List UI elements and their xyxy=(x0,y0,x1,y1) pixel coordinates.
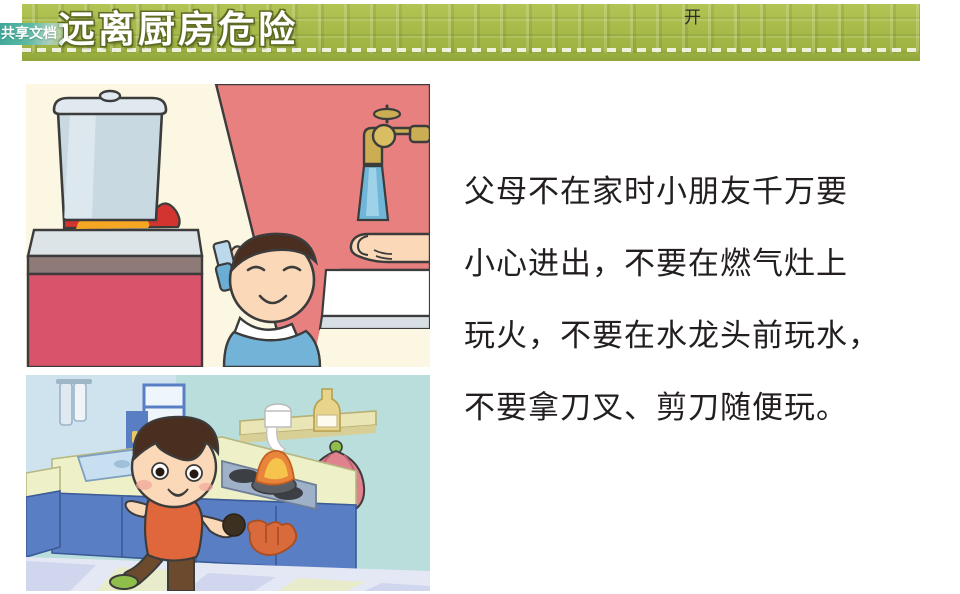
illustration-bottom-kitchen-stove xyxy=(26,375,430,591)
top-illustration-svg xyxy=(26,84,430,367)
body-line-1: 父母不在家时小朋友千万要 xyxy=(464,156,884,228)
slide-canvas: 远离厨房危险 开 共享文档 xyxy=(0,0,960,594)
banner-bottom-strip xyxy=(22,53,920,61)
body-line-2: 小心进出，不要在燃气灶上 xyxy=(464,228,884,300)
title-banner: 远离厨房危险 开 xyxy=(22,4,920,61)
body-text-block: 父母不在家时小朋友千万要 小心进出，不要在燃气灶上 玩火，不要在水龙头前玩水， … xyxy=(464,156,884,444)
body-line-4: 不要拿刀叉、剪刀随便玩。 xyxy=(464,372,884,444)
page-title: 远离厨房危险 xyxy=(58,6,298,54)
bottom-illustration-svg xyxy=(26,375,430,591)
body-line-3: 玩火，不要在水龙头前玩水， xyxy=(464,300,884,372)
banner-corner-character: 开 xyxy=(684,8,701,28)
illustration-top-kitchen-danger xyxy=(26,84,430,367)
watermark-label: 共享文档 xyxy=(0,26,57,42)
watermark-badge: 共享文档 xyxy=(0,23,63,45)
